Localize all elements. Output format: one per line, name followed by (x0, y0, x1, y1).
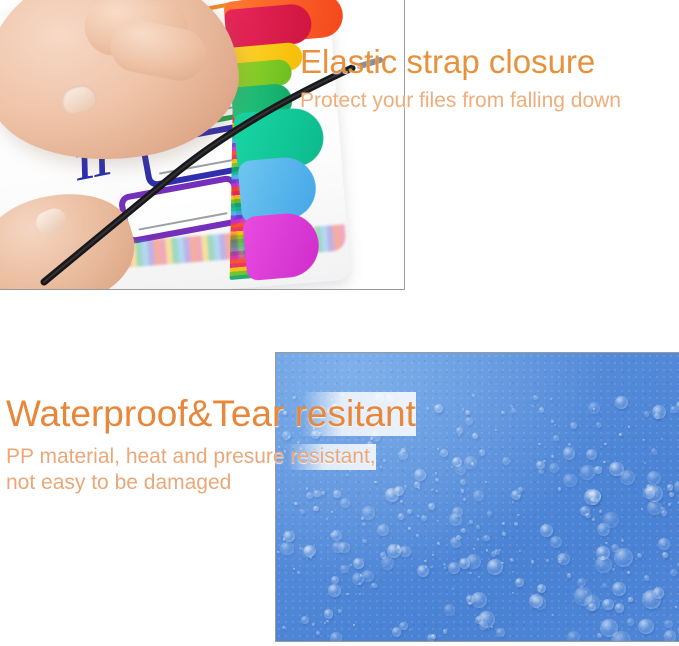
water-droplet (601, 556, 605, 560)
water-droplet (637, 553, 642, 558)
water-droplet (550, 536, 562, 548)
label-write-line (138, 212, 228, 231)
water-droplet (408, 527, 411, 530)
water-droplet (628, 597, 632, 601)
water-droplet (502, 522, 505, 525)
water-droplet (479, 621, 488, 630)
water-droplet (568, 443, 571, 446)
water-droplet (551, 455, 554, 458)
water-droplet (580, 506, 590, 516)
water-droplet (612, 568, 615, 571)
water-droplet (643, 439, 645, 441)
water-droplet (647, 501, 662, 516)
water-droplet (668, 503, 671, 506)
water-droplet (407, 509, 412, 514)
water-droplet (437, 542, 440, 545)
water-droplet (377, 524, 389, 536)
water-droplet (612, 582, 626, 596)
water-droplet (283, 531, 295, 543)
water-droplet (661, 510, 667, 516)
water-droplet (594, 466, 601, 473)
water-droplet (359, 593, 361, 595)
water-droplet (537, 584, 547, 594)
water-droplet (554, 424, 556, 426)
water-droplet (340, 498, 350, 508)
water-droplet (496, 628, 505, 637)
water-droplet (664, 620, 673, 629)
water-droplet (392, 627, 402, 637)
water-droplet (340, 565, 349, 574)
water-droplet (644, 575, 650, 581)
tab-sky (237, 155, 318, 223)
water-droplet (502, 457, 510, 465)
water-droplet (362, 506, 375, 519)
water-droplet (444, 604, 456, 616)
water-droplet (443, 629, 447, 633)
water-droplet (664, 630, 677, 642)
water-droplet (495, 429, 497, 431)
water-droplet (627, 571, 630, 574)
subline-elastic-strap: Protect your files from falling down (300, 87, 670, 115)
tab-magenta (242, 211, 321, 281)
water-droplet (331, 511, 333, 513)
water-droplet (483, 535, 490, 542)
water-droplet (485, 481, 487, 483)
water-droplet (353, 558, 364, 569)
feature-text-waterproof: Waterproof&Tear resitant PP material, he… (6, 392, 476, 496)
water-droplet (588, 402, 600, 414)
water-droplet (299, 547, 302, 550)
water-droplet (280, 542, 294, 556)
water-droplet (585, 591, 587, 593)
water-droplet (331, 576, 339, 584)
subline-waterproof-line-1-text: PP material, heat and presure resistant, (6, 444, 376, 470)
water-droplet (627, 618, 635, 626)
water-droplet (653, 587, 664, 598)
water-droplet (501, 411, 504, 414)
water-droplet (658, 538, 669, 549)
water-droplet (599, 510, 602, 513)
headline-elastic-strap: Elastic strap closure (300, 42, 670, 82)
water-droplet (400, 500, 403, 503)
product-feature-collage: 10 11 12 (0, 0, 679, 646)
water-droplet (602, 583, 607, 588)
water-droplet (539, 407, 544, 412)
water-droplet (646, 484, 653, 491)
water-droplet (362, 539, 367, 544)
water-droplet (533, 395, 538, 400)
finger-middle (106, 16, 210, 85)
water-droplet (615, 396, 628, 409)
subline-waterproof-line-1: PP material, heat and presure resistant, (6, 444, 476, 470)
water-droplet (331, 530, 342, 541)
water-droplet (313, 506, 318, 511)
water-droplet (277, 551, 279, 553)
feature-panel-waterproof: Waterproof&Tear resitant PP material, he… (0, 330, 679, 646)
water-droplet (647, 471, 661, 485)
water-droplet (425, 566, 427, 568)
water-droplet (511, 408, 516, 413)
water-droplet (324, 609, 333, 618)
water-droplet (550, 398, 552, 400)
water-droplet (512, 571, 514, 573)
water-droplet (674, 481, 679, 492)
water-droplet (468, 602, 471, 605)
water-droplet (487, 559, 503, 575)
water-droplet (421, 515, 427, 521)
water-droplet (531, 560, 535, 564)
water-droplet (353, 624, 355, 626)
water-droplet (282, 626, 286, 630)
subline-waterproof-line-2: not easy to be damaged (6, 470, 476, 496)
water-droplet (603, 512, 619, 528)
water-droplet (301, 616, 309, 624)
feature-text-elastic-strap: Elastic strap closure Protect your files… (300, 42, 670, 115)
water-droplet (324, 622, 326, 624)
water-droplet (346, 593, 348, 595)
water-droplet (473, 548, 475, 550)
water-droplet (563, 447, 575, 459)
water-droplet (546, 559, 549, 562)
water-droplet (330, 632, 342, 642)
water-droplet (654, 413, 660, 419)
water-droplet (338, 609, 342, 613)
feature-panel-elastic-strap: 10 11 12 (0, 0, 679, 300)
water-droplet (514, 522, 518, 526)
headline-waterproof: Waterproof&Tear resitant (6, 392, 416, 436)
water-droplet (476, 525, 480, 529)
water-droplet (293, 568, 295, 570)
water-droplet (651, 448, 657, 454)
water-droplet (338, 542, 350, 554)
water-droplet (567, 631, 580, 642)
water-droplet (430, 566, 433, 569)
water-droplet (580, 465, 595, 480)
water-droplet (380, 552, 387, 559)
water-droplet (644, 411, 649, 416)
water-droplet (297, 571, 300, 574)
water-droplet (567, 573, 572, 578)
water-droplet (463, 498, 466, 501)
water-droplet (479, 449, 486, 456)
water-droplet (538, 443, 541, 446)
subline-waterproof-line-2-text: not easy to be damaged (6, 470, 231, 496)
water-droplet (517, 514, 520, 517)
water-droplet (602, 599, 613, 610)
water-droplet (603, 461, 606, 464)
water-droplet (563, 474, 577, 488)
water-droplet (597, 633, 602, 638)
